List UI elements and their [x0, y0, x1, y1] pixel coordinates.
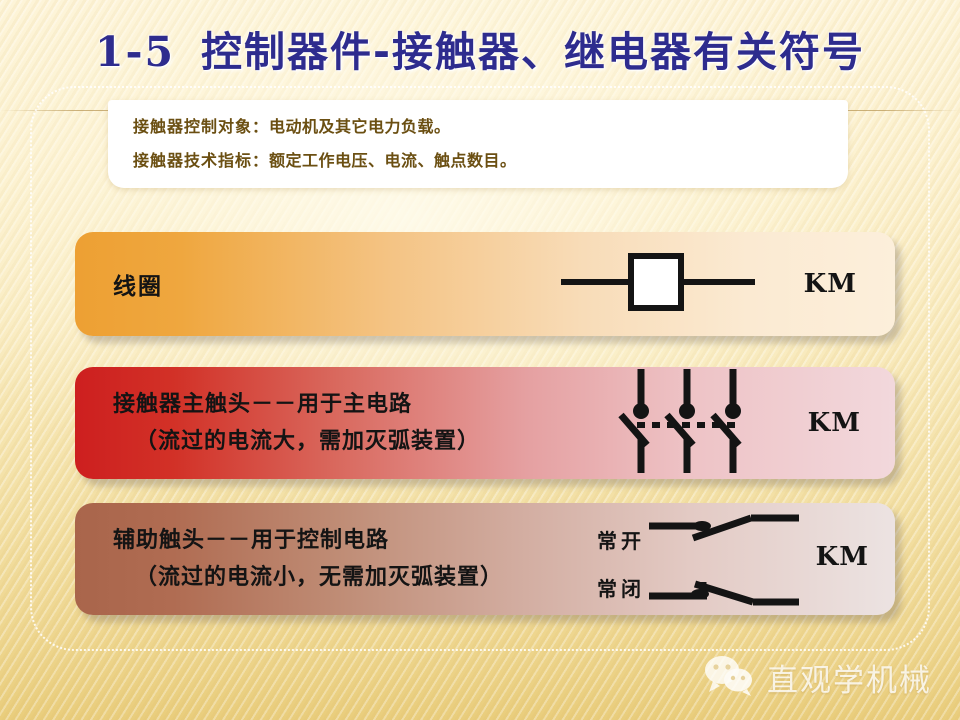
- normally-closed-tag: 常闭: [597, 573, 645, 602]
- info-line-1-label: 接触器控制对象：: [133, 117, 269, 136]
- watermark-text: 直观学机械: [767, 655, 932, 700]
- row-main-contacts[interactable]: 接触器主触头－－用于主电路 （流过的电流大，需加灭弧装置）: [75, 367, 895, 479]
- row-coil-label: 线圈: [113, 267, 163, 301]
- no-nc-contact-symbol: [647, 506, 803, 612]
- row-aux-contacts-label-line1: 辅助触头－－用于控制电路: [113, 528, 389, 553]
- row-main-contacts-label: 接触器主触头－－用于主电路 （流过的电流大，需加灭弧装置）: [113, 386, 480, 460]
- coil-rectangle-symbol: [559, 250, 767, 318]
- wechat-icon: [703, 654, 755, 700]
- normally-open-tag: 常开: [597, 525, 645, 554]
- page-title-text: 控制器件-接触器、继电器有关符号: [201, 28, 865, 76]
- row-coil[interactable]: 线圈 KM: [75, 232, 895, 336]
- row-coil-tag: KM: [804, 269, 857, 299]
- info-line-2-label: 接触器技术指标：: [133, 151, 269, 170]
- row-aux-contacts-label: 辅助触头－－用于控制电路 （流过的电流小，无需加灭弧装置）: [113, 522, 503, 596]
- page-title-number: 1-5: [95, 28, 175, 76]
- normally-open-symbol: [649, 518, 799, 538]
- slide-canvas: 1-5控制器件-接触器、继电器有关符号 接触器控制对象：电动机及其它电力负载。 …: [0, 0, 960, 720]
- three-pole-contact-symbol: [617, 367, 753, 479]
- info-box: 接触器控制对象：电动机及其它电力负载。 接触器技术指标：额定工作电压、电流、触点…: [108, 100, 848, 188]
- info-line-2-value: 额定工作电压、电流、触点数目。: [269, 151, 517, 170]
- row-main-contacts-label-line1: 接触器主触头－－用于主电路: [113, 392, 412, 417]
- watermark: 直观学机械: [703, 654, 932, 700]
- info-line-2: 接触器技术指标：额定工作电压、电流、触点数目。: [133, 144, 848, 178]
- info-line-1: 接触器控制对象：电动机及其它电力负载。: [133, 110, 848, 144]
- row-aux-contacts[interactable]: 辅助触头－－用于控制电路 （流过的电流小，无需加灭弧装置） 常开 常闭: [75, 503, 895, 615]
- row-aux-contacts-label-line2: （流过的电流小，无需加灭弧装置）: [113, 559, 503, 596]
- page-title: 1-5控制器件-接触器、继电器有关符号: [0, 18, 960, 78]
- row-main-contacts-label-line2: （流过的电流大，需加灭弧装置）: [113, 423, 480, 460]
- normally-closed-symbol: [649, 582, 799, 602]
- row-main-contacts-tag: KM: [808, 408, 861, 438]
- row-aux-contacts-tag: KM: [816, 542, 869, 572]
- info-line-1-value: 电动机及其它电力负载。: [269, 117, 451, 136]
